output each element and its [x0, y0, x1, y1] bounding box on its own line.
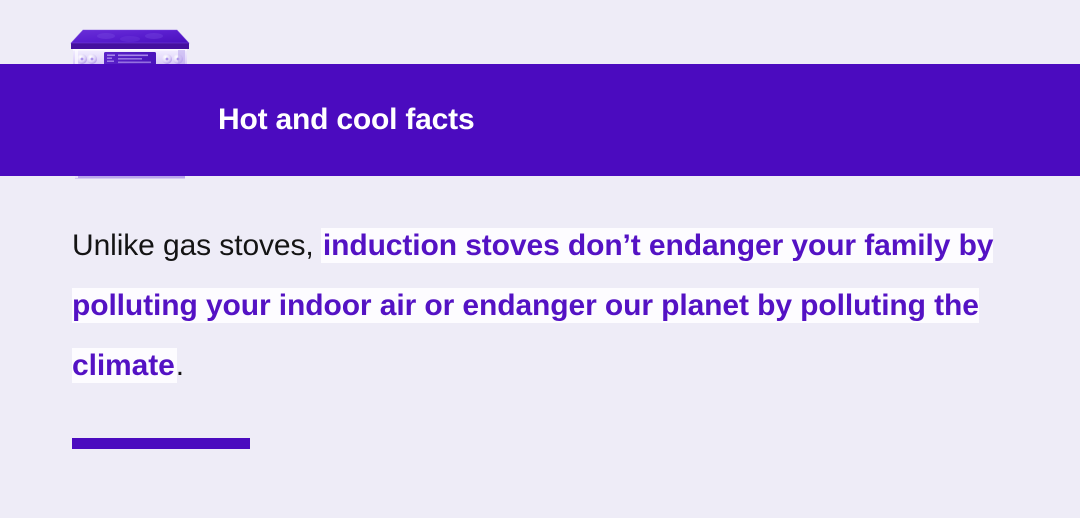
fact-card: Hot and cool facts Unlike gas stoves, in…	[0, 0, 1080, 518]
banner: Hot and cool facts	[0, 64, 1080, 176]
fact-lead-text: Unlike gas stoves,	[72, 229, 322, 262]
accent-rule	[72, 438, 250, 449]
banner-title: Hot and cool facts	[218, 105, 474, 135]
fact-trailing-punctuation: .	[176, 349, 184, 382]
fact-statement: Unlike gas stoves, induction stoves don’…	[72, 216, 1024, 396]
